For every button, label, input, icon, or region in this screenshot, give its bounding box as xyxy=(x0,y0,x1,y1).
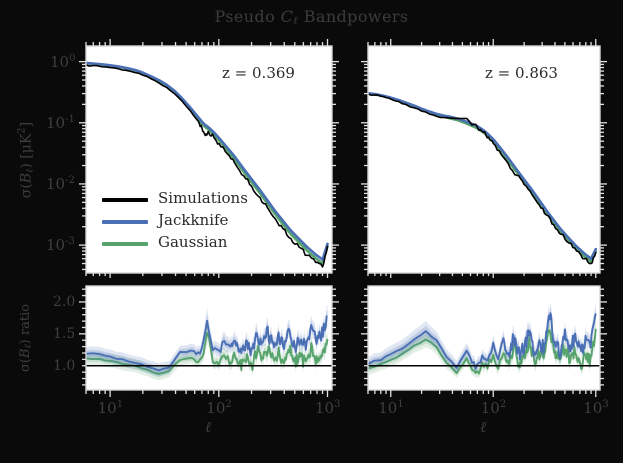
x-ticklabel-left-1: 102 xyxy=(206,399,231,417)
legend-label-gaussian: Gaussian xyxy=(158,233,227,251)
top-curve-right-simulations xyxy=(368,94,596,263)
bottom-y-axis-label: σ(Bℓ) ratio xyxy=(18,304,34,372)
ylab-end: ] xyxy=(18,121,34,126)
x-axis-label-right: ℓ xyxy=(480,418,486,437)
legend-label-jackknife: Jackknife xyxy=(158,211,228,229)
ylab2-post: ) ratio xyxy=(18,304,33,344)
ylab2-pre: σ( xyxy=(18,358,33,372)
top-y-axis-label: σ(Bℓ) [μK2] xyxy=(17,121,36,197)
top-curve-right-gaussian xyxy=(368,94,596,262)
ylab-sym: B xyxy=(18,172,34,182)
ylab-sub: ℓ xyxy=(24,168,35,172)
x-ticklabel-right-2: 103 xyxy=(583,399,608,417)
x-ticklabel-right-1: 102 xyxy=(481,399,506,417)
legend-label-simulations: Simulations xyxy=(158,189,248,207)
top-curve-left-jackknife xyxy=(86,63,328,260)
ylab-post: ) [μK xyxy=(18,133,34,168)
y-ticklabel-bottom-2: 2.0 xyxy=(53,294,75,310)
figure-root: Pseudo Cℓ Bandpowers σ(Bℓ) [μK2] σ(Bℓ) r… xyxy=(0,0,623,463)
ylab2-sub: ℓ xyxy=(23,344,34,348)
ylab-pre: σ( xyxy=(18,183,34,198)
ylab-exp: 2 xyxy=(17,127,28,133)
y-ticklabel-bottom-1: 1.5 xyxy=(53,326,75,342)
x-axis-label-left: ℓ xyxy=(205,418,211,437)
legend-swatch-gaussian xyxy=(102,242,148,246)
legend-swatch-simulations xyxy=(102,198,148,202)
ylab2-sym: B xyxy=(18,349,33,359)
y-ticklabel-top-1: 10-1 xyxy=(46,114,75,132)
y-ticklabel-top-2: 10-2 xyxy=(46,175,75,193)
x-ticklabel-right-0: 101 xyxy=(378,399,403,417)
x-ticklabel-left-0: 101 xyxy=(98,399,123,417)
annotation-redshift-left: z = 0.369 xyxy=(222,64,295,82)
x-ticklabel-left-2: 103 xyxy=(315,399,340,417)
y-ticklabel-top-3: 10-3 xyxy=(46,236,75,254)
y-ticklabel-bottom-0: 1.0 xyxy=(53,358,75,374)
y-ticklabel-top-0: 100 xyxy=(50,53,75,71)
legend-swatch-jackknife xyxy=(102,220,148,224)
annotation-redshift-right: z = 0.863 xyxy=(485,64,558,82)
